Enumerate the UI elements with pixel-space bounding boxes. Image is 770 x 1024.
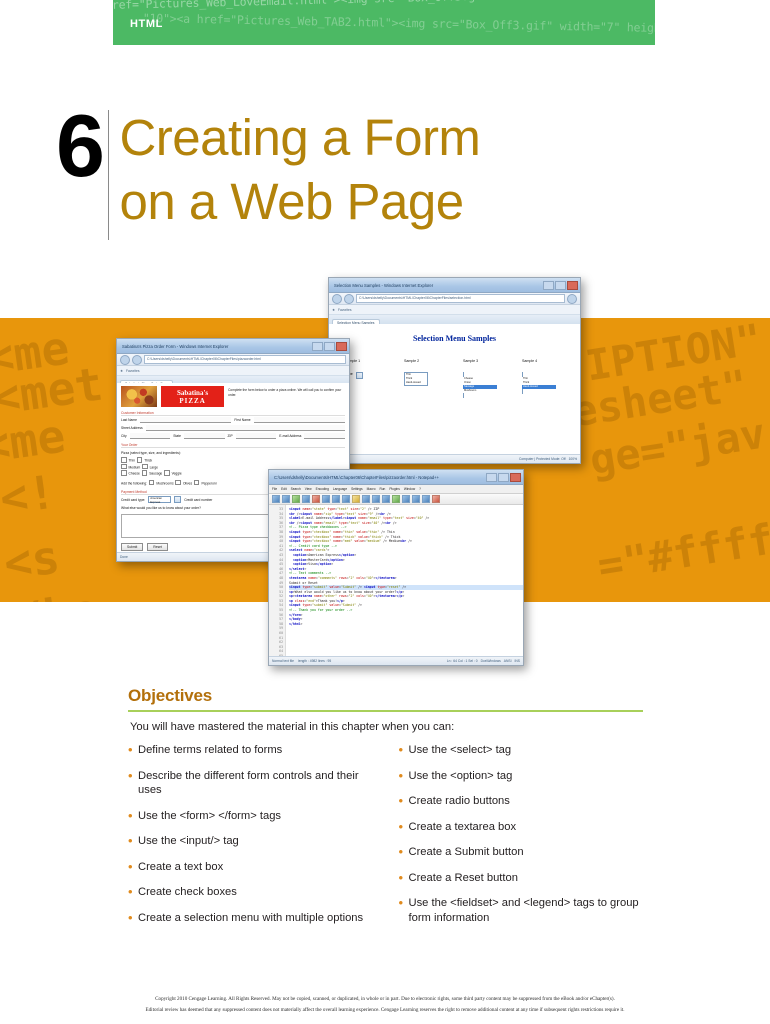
bullet-icon: •	[399, 871, 409, 886]
editor-statusbar: Normal text file length : 4982 lines : 9…	[269, 656, 523, 665]
favorites-bar: ★ Favorites	[117, 366, 349, 376]
objectives-left-column: •Define terms related to forms •Describe…	[128, 743, 373, 936]
objective-text: Create a selection menu with multiple op…	[138, 911, 363, 926]
objective-item: •Create a Reset button	[399, 871, 644, 886]
menu-item-settings[interactable]: Settings	[351, 487, 363, 491]
chapter-title-line-1: Creating a Form	[119, 106, 480, 170]
bullet-icon: •	[399, 896, 409, 925]
minimize-icon[interactable]	[486, 473, 497, 482]
copyright-footer: Copyright 2010 Cengage Learning. All Rig…	[0, 994, 770, 1016]
checkbox-label[interactable]: Medium	[129, 465, 141, 469]
objective-text: Use the <fieldset> and <legend> tags to …	[409, 896, 644, 925]
window-title: Selection Menu Samples - Windows Interne…	[331, 283, 543, 288]
checkbox-label[interactable]: Mushrooms	[156, 481, 173, 485]
screenshot-code-editor-window: C:\Users\dshelly\Documents\HTML\Chapter0…	[268, 469, 524, 666]
logo-line-1: Sabatina's	[177, 389, 208, 397]
file-type-label: Normal text file	[272, 659, 294, 663]
favorites-bar: ★ Favorites	[329, 305, 580, 315]
menu-item-plugins[interactable]: Plugins	[389, 487, 399, 491]
line-ending-label: Dos\Windows	[481, 659, 501, 663]
objective-item: •Define terms related to forms	[128, 743, 373, 758]
sample-header: Sample 2	[404, 359, 438, 363]
chevron-down-icon[interactable]	[174, 496, 181, 503]
word-wrap-icon[interactable]	[422, 495, 430, 503]
window-titlebar: Selection Menu Samples - Windows Interne…	[329, 278, 580, 293]
minimize-icon[interactable]	[543, 281, 554, 290]
star-icon[interactable]: ★	[120, 369, 123, 373]
rendered-web-page: Selection Menu Samples Sample 1 Type Sam…	[329, 324, 580, 454]
street-address-input[interactable]	[146, 425, 345, 431]
last-name-input[interactable]	[140, 417, 231, 423]
bullet-icon: •	[128, 911, 138, 926]
menu-item-window[interactable]: Window	[404, 487, 415, 491]
security-zone-label: Computer | Protected Mode: Off	[519, 457, 566, 461]
menu-item-search[interactable]: Search	[291, 487, 301, 491]
state-input[interactable]	[184, 433, 225, 439]
zip-input[interactable]	[236, 433, 277, 439]
insert-mode-label: INS	[515, 659, 521, 663]
menu-item-help[interactable]: ?	[419, 487, 421, 491]
banner-code-line-2: "10"><a href="Pictures_Web_TAB2.html"><i…	[143, 11, 655, 38]
banner-subject-label: HTML	[130, 18, 163, 30]
option-item[interactable]: Hand-tossed	[405, 381, 427, 385]
objective-text: Create radio buttons	[409, 794, 510, 809]
page-header: Sabatina's PIZZA Complete the form below…	[121, 386, 345, 407]
close-file-icon[interactable]	[312, 495, 320, 503]
fieldset-legend-order: Your Order	[121, 443, 345, 448]
field-label: E-mail Address	[279, 434, 301, 438]
forward-icon[interactable]	[344, 294, 354, 304]
objective-item: •Create a textarea box	[399, 820, 644, 835]
objective-text: Use the <select> tag	[409, 743, 512, 758]
checkbox-icon[interactable]	[121, 470, 127, 476]
bullet-icon: •	[128, 809, 138, 824]
line-number-gutter: 3334353637383940414243444546474849505152…	[269, 505, 286, 656]
objectives-columns: •Define terms related to forms •Describe…	[128, 743, 643, 936]
window-titlebar: Sabatina's Pizza Order Form - Windows In…	[117, 339, 349, 354]
watermark-text: <me	[0, 408, 68, 473]
favorites-label[interactable]: Favorites	[338, 308, 352, 312]
sample-header: Sample 4	[522, 359, 556, 363]
bullet-icon: •	[399, 769, 409, 784]
caret-position-label: Ln : 64 Col : 1 Sel : 0	[447, 659, 478, 663]
pizza-photo-image	[121, 386, 157, 407]
objectives-heading: Objectives	[128, 686, 643, 706]
field-label: City	[121, 434, 127, 438]
bullet-icon: •	[399, 743, 409, 758]
browser-address-toolbar: C:\Users\dshelly\Documents\HTML\Chapter0…	[117, 354, 349, 366]
favorites-label[interactable]: Favorites	[126, 369, 140, 373]
address-input[interactable]: C:\Users\dshelly\Documents\HTML\Chapter0…	[144, 355, 346, 364]
save-icon[interactable]	[292, 495, 300, 503]
payment-label: Credit card type:	[121, 498, 145, 502]
select-sized-control[interactable]: Thin Thick Hand-tossed	[404, 372, 428, 386]
field-label: State	[173, 434, 181, 438]
chevron-down-icon[interactable]	[356, 372, 363, 379]
sample-column: Sample 1 Type	[345, 359, 379, 398]
bullet-icon: •	[399, 820, 409, 835]
window-title: C:\Users\dshelly\Documents\HTML\Chapter0…	[271, 475, 486, 480]
chapter-title-line-2: on a Web Page	[119, 170, 480, 234]
back-icon[interactable]	[120, 355, 130, 365]
new-file-icon[interactable]	[272, 495, 280, 503]
window-controls	[486, 473, 521, 482]
email-input[interactable]	[304, 433, 345, 439]
watermark-text: ="#ffff	[594, 514, 770, 590]
objective-item: •Create a text box	[128, 860, 373, 875]
objective-text: Create a text box	[138, 860, 223, 875]
save-all-icon[interactable]	[302, 495, 310, 503]
window-title: Sabatina's Pizza Order Form - Windows In…	[119, 344, 312, 349]
close-icon[interactable]	[567, 281, 578, 290]
bullet-icon: •	[128, 885, 138, 900]
length-lines-label: length : 4982 lines : 95	[298, 659, 331, 663]
checkbox-icon[interactable]	[142, 464, 148, 470]
checkbox-label[interactable]: Olives	[183, 481, 192, 485]
submit-button[interactable]: Submit	[121, 543, 143, 551]
objective-item: •Create a Submit button	[399, 845, 644, 860]
objective-item: •Use the <input/> tag	[128, 834, 373, 849]
menu-item-language[interactable]: Language	[333, 487, 347, 491]
objectives-section: Objectives You will have mastered the ma…	[128, 686, 643, 936]
objective-item: •Create radio buttons	[399, 794, 644, 809]
objective-item: •Create a selection menu with multiple o…	[128, 911, 373, 926]
zoom-level-label[interactable]: 100%	[569, 457, 577, 461]
page-heading: Selection Menu Samples	[329, 334, 580, 343]
bullet-icon: •	[399, 794, 409, 809]
chapter-title: Creating a Form on a Web Page	[119, 104, 480, 234]
code-editor-area[interactable]: 3334353637383940414243444546474849505152…	[269, 505, 523, 656]
objectives-rule	[128, 710, 643, 712]
sample-column: Sample 2 Thin Thick Hand-tossed	[404, 359, 438, 398]
copyright-line-1: Copyright 2010 Cengage Learning. All Rig…	[0, 994, 770, 1005]
back-icon[interactable]	[332, 294, 342, 304]
credit-card-select[interactable]: American Express	[148, 496, 171, 503]
reset-button[interactable]: Reset	[147, 543, 168, 551]
objective-item: •Use the <form> </form> tags	[128, 809, 373, 824]
objective-text: Describe the different form controls and…	[138, 769, 373, 798]
city-input[interactable]	[130, 433, 171, 439]
checkbox-icon[interactable]	[137, 457, 143, 463]
objective-text: Define terms related to forms	[138, 743, 282, 758]
objective-item: •Create check boxes	[128, 885, 373, 900]
close-icon[interactable]	[336, 342, 347, 351]
menu-item-edit[interactable]: Edit	[281, 487, 287, 491]
watermark-text: <s	[1, 529, 63, 590]
chapter-heading: 6 Creating a Form on a Web Page	[56, 104, 480, 240]
objective-text: Create a textarea box	[409, 820, 517, 835]
sample-header: Sample 1	[345, 359, 379, 363]
undo-icon[interactable]	[362, 495, 370, 503]
window-titlebar: C:\Users\dshelly\Documents\HTML\Chapter0…	[269, 470, 523, 485]
window-controls	[543, 281, 578, 290]
extras-label: Add the following:	[121, 481, 147, 485]
objective-item: •Use the <option> tag	[399, 769, 644, 784]
site-logo: Sabatina's PIZZA	[161, 386, 224, 407]
order-prompt: Pizza (select type, size, and ingredient…	[121, 451, 345, 455]
open-file-icon[interactable]	[282, 495, 290, 503]
editor-menubar: File Edit Search View Encoding Language …	[269, 485, 523, 494]
maximize-icon[interactable]	[324, 342, 335, 351]
page-tagline: Complete the form below to order a pizza…	[228, 386, 345, 398]
status-text: Done	[120, 555, 128, 559]
objective-text: Use the <option> tag	[409, 769, 513, 784]
print-icon[interactable]	[322, 495, 330, 503]
bullet-icon: •	[399, 845, 409, 860]
bullet-icon: •	[128, 743, 138, 758]
copy-icon[interactable]	[342, 495, 350, 503]
sample-columns: Sample 1 Type Sample 2 Thin Thick Hand-t…	[329, 343, 580, 398]
search-icon[interactable]	[567, 294, 577, 304]
replace-icon[interactable]	[392, 495, 400, 503]
list-scroll-control[interactable]: Cheese Onion Sausage Mushroom	[463, 372, 497, 398]
screenshot-selection-menu-window: Selection Menu Samples - Windows Interne…	[328, 277, 581, 464]
menu-item-macro[interactable]: Macro	[367, 487, 376, 491]
sample-header: Sample 3	[463, 359, 497, 363]
menu-item-encoding[interactable]: Encoding	[316, 487, 329, 491]
cut-icon[interactable]	[332, 495, 340, 503]
objective-text: Use the <form> </form> tags	[138, 809, 281, 824]
checkbox-icon[interactable]	[194, 480, 200, 486]
objective-item: •Use the <select> tag	[399, 743, 644, 758]
payment-extra-label: Credit card number	[184, 498, 212, 502]
bullet-icon: •	[128, 834, 138, 849]
chapter-banner: href="Pictures_Web_LoveEmail.html"><img …	[113, 0, 655, 45]
checkbox-icon[interactable]	[142, 470, 148, 476]
field-label: Last Name	[121, 418, 137, 422]
copyright-line-2: Editorial review has deemed that any sup…	[0, 1005, 770, 1016]
bullet-icon: •	[128, 860, 138, 875]
checkbox-label[interactable]: Pepperoni	[201, 481, 216, 485]
checkbox-label[interactable]: Veggie	[172, 472, 182, 476]
star-icon[interactable]: ★	[332, 308, 335, 312]
zoom-in-icon[interactable]	[402, 495, 410, 503]
sample-column: Sample 3 Cheese Onion Sausage Mushroom	[463, 359, 497, 398]
objective-text: Create check boxes	[138, 885, 237, 900]
close-icon[interactable]	[510, 473, 521, 482]
redo-icon[interactable]	[372, 495, 380, 503]
checkbox-label[interactable]: Large	[150, 465, 158, 469]
checkbox-label[interactable]: Cheese	[129, 472, 140, 476]
objective-item: •Use the <fieldset> and <legend> tags to…	[399, 896, 644, 925]
maximize-icon[interactable]	[498, 473, 509, 482]
list-multiple-control[interactable]: Thin Thick Hand-tossed	[522, 372, 556, 394]
macro-record-icon[interactable]	[432, 495, 440, 503]
paste-icon[interactable]	[352, 495, 360, 503]
objective-text: Create a Submit button	[409, 845, 524, 860]
sample-column: Sample 4 Thin Thick Hand-tossed	[522, 359, 556, 398]
checkbox-icon[interactable]	[175, 480, 181, 486]
find-icon[interactable]	[382, 495, 390, 503]
first-name-input[interactable]	[254, 417, 345, 423]
objectives-intro: You will have mastered the material in t…	[130, 721, 643, 733]
menu-item-view[interactable]: View	[305, 487, 312, 491]
chapter-divider-rule	[108, 110, 110, 240]
browser-statusbar: Done Computer | Protected Mode: Off 100%	[329, 454, 580, 463]
chapter-number: 6	[56, 104, 108, 188]
option-item-selected[interactable]: Hand-tossed	[522, 385, 556, 389]
zoom-out-icon[interactable]	[412, 495, 420, 503]
field-label: Street Address	[121, 426, 143, 430]
checkbox-icon[interactable]	[149, 480, 155, 486]
objectives-right-column: •Use the <select> tag •Use the <option> …	[399, 743, 644, 936]
fieldset-legend-customer: Customer Information	[121, 411, 345, 416]
browser-address-toolbar: C:\Users\dshelly\Documents\HTML\Chapter0…	[329, 293, 580, 305]
logo-line-2: PIZZA	[179, 397, 205, 405]
source-code-text[interactable]: <input name="state" type="text" size="2"…	[286, 505, 523, 656]
field-label: ZIP	[228, 434, 233, 438]
objective-text: Use the <input/> tag	[138, 834, 239, 849]
checkbox-icon[interactable]	[121, 464, 127, 470]
editor-toolbar	[269, 494, 523, 505]
maximize-icon[interactable]	[555, 281, 566, 290]
encoding-label: ANSI	[504, 659, 512, 663]
checkbox-icon[interactable]	[164, 470, 170, 476]
objective-text: Create a Reset button	[409, 871, 518, 886]
address-input[interactable]: C:\Users\dshelly\Documents\HTML\Chapter0…	[356, 294, 565, 303]
objective-item: •Describe the different form controls an…	[128, 769, 373, 798]
checkbox-label[interactable]: Thin	[129, 459, 135, 463]
checkbox-label[interactable]: Thick	[144, 459, 152, 463]
bullet-icon: •	[128, 769, 138, 798]
forward-icon[interactable]	[132, 355, 142, 365]
checkbox-icon[interactable]	[121, 457, 127, 463]
checkbox-label[interactable]: Sausage	[149, 472, 162, 476]
menu-item-file[interactable]: File	[272, 487, 277, 491]
window-controls	[312, 342, 347, 351]
field-label: First Name	[234, 418, 250, 422]
watermark-text: <!	[0, 464, 59, 525]
minimize-icon[interactable]	[312, 342, 323, 351]
option-item[interactable]: Mushroom	[463, 389, 497, 393]
menu-item-run[interactable]: Run	[379, 487, 385, 491]
